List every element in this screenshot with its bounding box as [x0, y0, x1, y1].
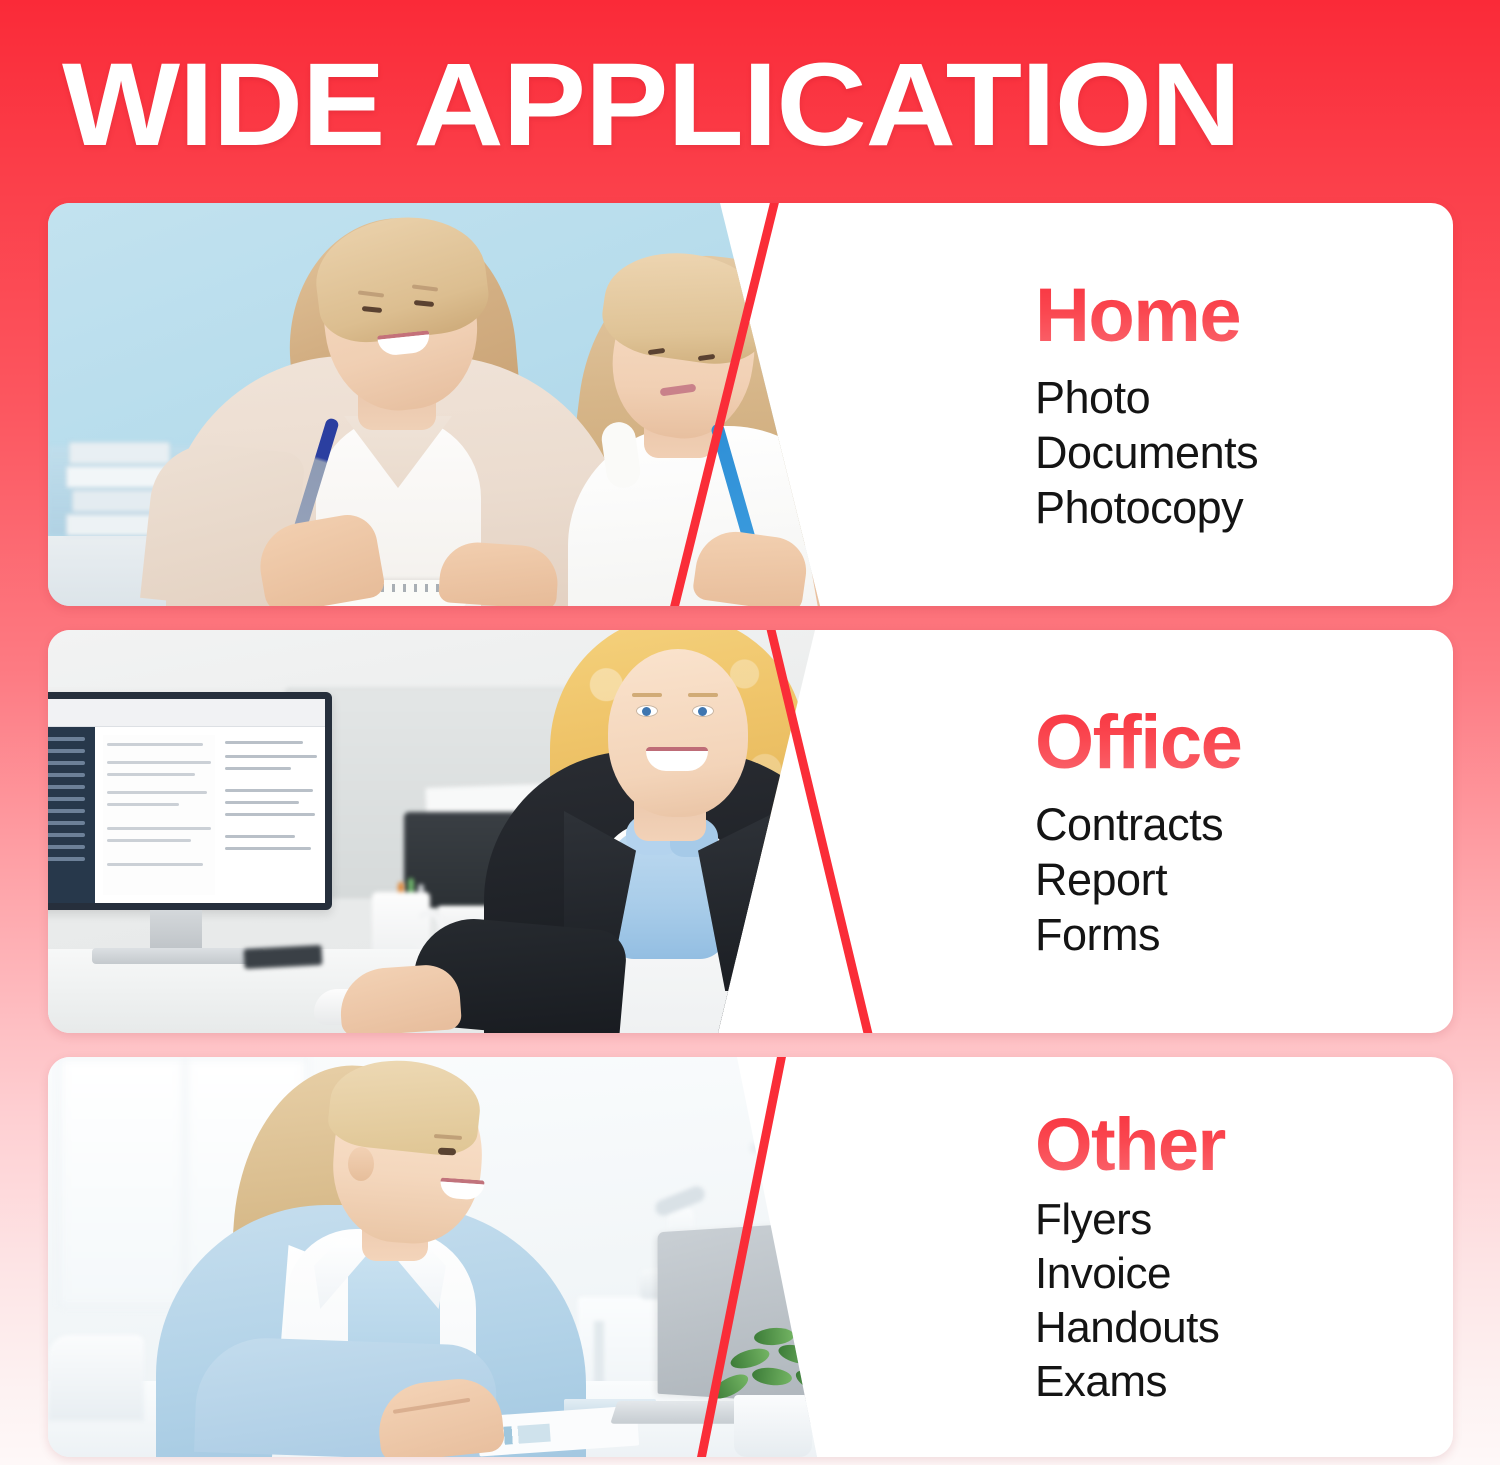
card-photo-other [48, 1057, 888, 1457]
card-text-office: Office Contracts Report Forms [893, 630, 1453, 1033]
application-card-home[interactable]: Home Photo Documents Photocopy [48, 203, 1453, 606]
list-item: Forms [1035, 907, 1453, 962]
card-list-office: Contracts Report Forms [1035, 797, 1453, 962]
list-item: Flyers [1035, 1193, 1453, 1247]
page-title: WIDE APPLICATION [62, 46, 1240, 164]
application-card-office[interactable]: Office Contracts Report Forms [48, 630, 1453, 1033]
application-cards-list: Home Photo Documents Photocopy [48, 203, 1453, 1457]
list-item: Documents [1035, 425, 1453, 480]
list-item: Report [1035, 852, 1453, 907]
card-heading-home: Home [1035, 274, 1453, 358]
list-item: Contracts [1035, 797, 1453, 852]
home-scene-illustration [48, 203, 888, 606]
list-item: Invoice [1035, 1247, 1453, 1301]
card-heading-other: Other [1035, 1105, 1453, 1185]
office-scene-illustration [48, 630, 888, 1033]
card-text-home: Home Photo Documents Photocopy [893, 203, 1453, 606]
page-header: WIDE APPLICATION [0, 0, 1500, 200]
card-list-home: Photo Documents Photocopy [1035, 370, 1453, 535]
card-heading-office: Office [1035, 701, 1453, 785]
list-item: Exams [1035, 1355, 1453, 1409]
card-photo-home [48, 203, 888, 606]
card-text-other: Other Flyers Invoice Handouts Exams [893, 1057, 1453, 1457]
list-item: Photo [1035, 370, 1453, 425]
lab-scene-illustration [48, 1057, 888, 1457]
list-item: Photocopy [1035, 480, 1453, 535]
list-item: Handouts [1035, 1301, 1453, 1355]
card-list-other: Flyers Invoice Handouts Exams [1035, 1193, 1453, 1409]
application-card-other[interactable]: Other Flyers Invoice Handouts Exams [48, 1057, 1453, 1457]
card-photo-office [48, 630, 888, 1033]
